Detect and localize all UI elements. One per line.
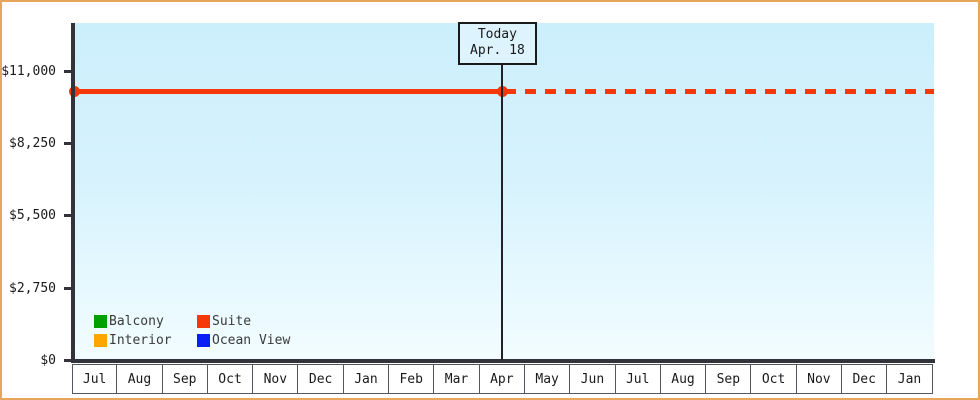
- y-axis-tick-11000: [64, 70, 74, 73]
- legend-swatch-ocean-view-icon: [197, 334, 210, 347]
- x-axis-month-cell[interactable]: May: [525, 365, 570, 393]
- legend-swatch-suite-icon: [197, 315, 210, 328]
- y-axis-tick-0: [64, 359, 74, 362]
- y-axis-label-11000: $11,000: [1, 65, 56, 78]
- x-axis-month-cell[interactable]: Feb: [389, 365, 434, 393]
- legend-item-balcony[interactable]: Balcony: [94, 312, 189, 331]
- y-axis-label-0: $0: [40, 354, 56, 367]
- legend-item-ocean-view[interactable]: Ocean View: [197, 331, 290, 350]
- y-axis-spine: [71, 23, 75, 363]
- series-line-suite-solid: [74, 89, 502, 94]
- y-axis-label-5500: $5,500: [9, 209, 56, 222]
- series-line-suite-dashed: [505, 89, 934, 94]
- x-axis-month-cell[interactable]: Nov: [797, 365, 842, 393]
- today-vertical-line: [501, 23, 503, 360]
- x-axis-month-strip: JulAugSepOctNovDecJanFebMarAprMayJunJulA…: [72, 364, 933, 394]
- x-axis-month-cell[interactable]: Jan: [344, 365, 389, 393]
- today-callout-box[interactable]: Today Apr. 18: [458, 22, 537, 65]
- legend-swatch-balcony-icon: [94, 315, 107, 328]
- legend-item-suite[interactable]: Suite: [197, 312, 290, 331]
- legend-label-interior: Interior: [109, 334, 172, 347]
- today-callout-line1: Today: [470, 27, 525, 43]
- y-axis-tick-2750: [64, 287, 74, 290]
- legend-item-interior[interactable]: Interior: [94, 331, 189, 350]
- x-axis-month-cell[interactable]: Oct: [751, 365, 796, 393]
- x-axis-month-cell[interactable]: Dec: [842, 365, 887, 393]
- y-axis-label-2750: $2,750: [9, 282, 56, 295]
- x-axis-month-cell[interactable]: Oct: [208, 365, 253, 393]
- x-axis-month-cell[interactable]: Dec: [298, 365, 343, 393]
- y-axis-label-8250: $8,250: [9, 137, 56, 150]
- x-axis-month-cell[interactable]: Jul: [616, 365, 661, 393]
- x-axis-month-cell[interactable]: Jun: [570, 365, 615, 393]
- x-axis-month-cell[interactable]: Sep: [706, 365, 751, 393]
- x-axis-month-cell[interactable]: Sep: [163, 365, 208, 393]
- x-axis-month-cell[interactable]: Aug: [661, 365, 706, 393]
- x-axis-month-cell[interactable]: Jul: [72, 365, 117, 393]
- today-callout-line2: Apr. 18: [470, 43, 525, 59]
- plot-area: [74, 23, 934, 360]
- x-axis-month-cell[interactable]: Nov: [253, 365, 298, 393]
- y-axis-tick-5500: [64, 214, 74, 217]
- legend-label-suite: Suite: [212, 315, 251, 328]
- x-axis-spine: [71, 359, 935, 363]
- price-history-chart: $11,000 $8,250 $5,500 $2,750 $0 Today Ap…: [0, 0, 980, 400]
- x-axis-month-cell[interactable]: Apr: [480, 365, 525, 393]
- y-axis-tick-8250: [64, 142, 74, 145]
- legend-label-balcony: Balcony: [109, 315, 164, 328]
- legend-swatch-interior-icon: [94, 334, 107, 347]
- chart-legend: Balcony Suite Interior Ocean View: [94, 312, 290, 350]
- x-axis-month-cell[interactable]: Aug: [117, 365, 162, 393]
- x-axis-month-cell[interactable]: Jan: [887, 365, 932, 393]
- legend-label-ocean-view: Ocean View: [212, 334, 290, 347]
- x-axis-month-cell[interactable]: Mar: [434, 365, 479, 393]
